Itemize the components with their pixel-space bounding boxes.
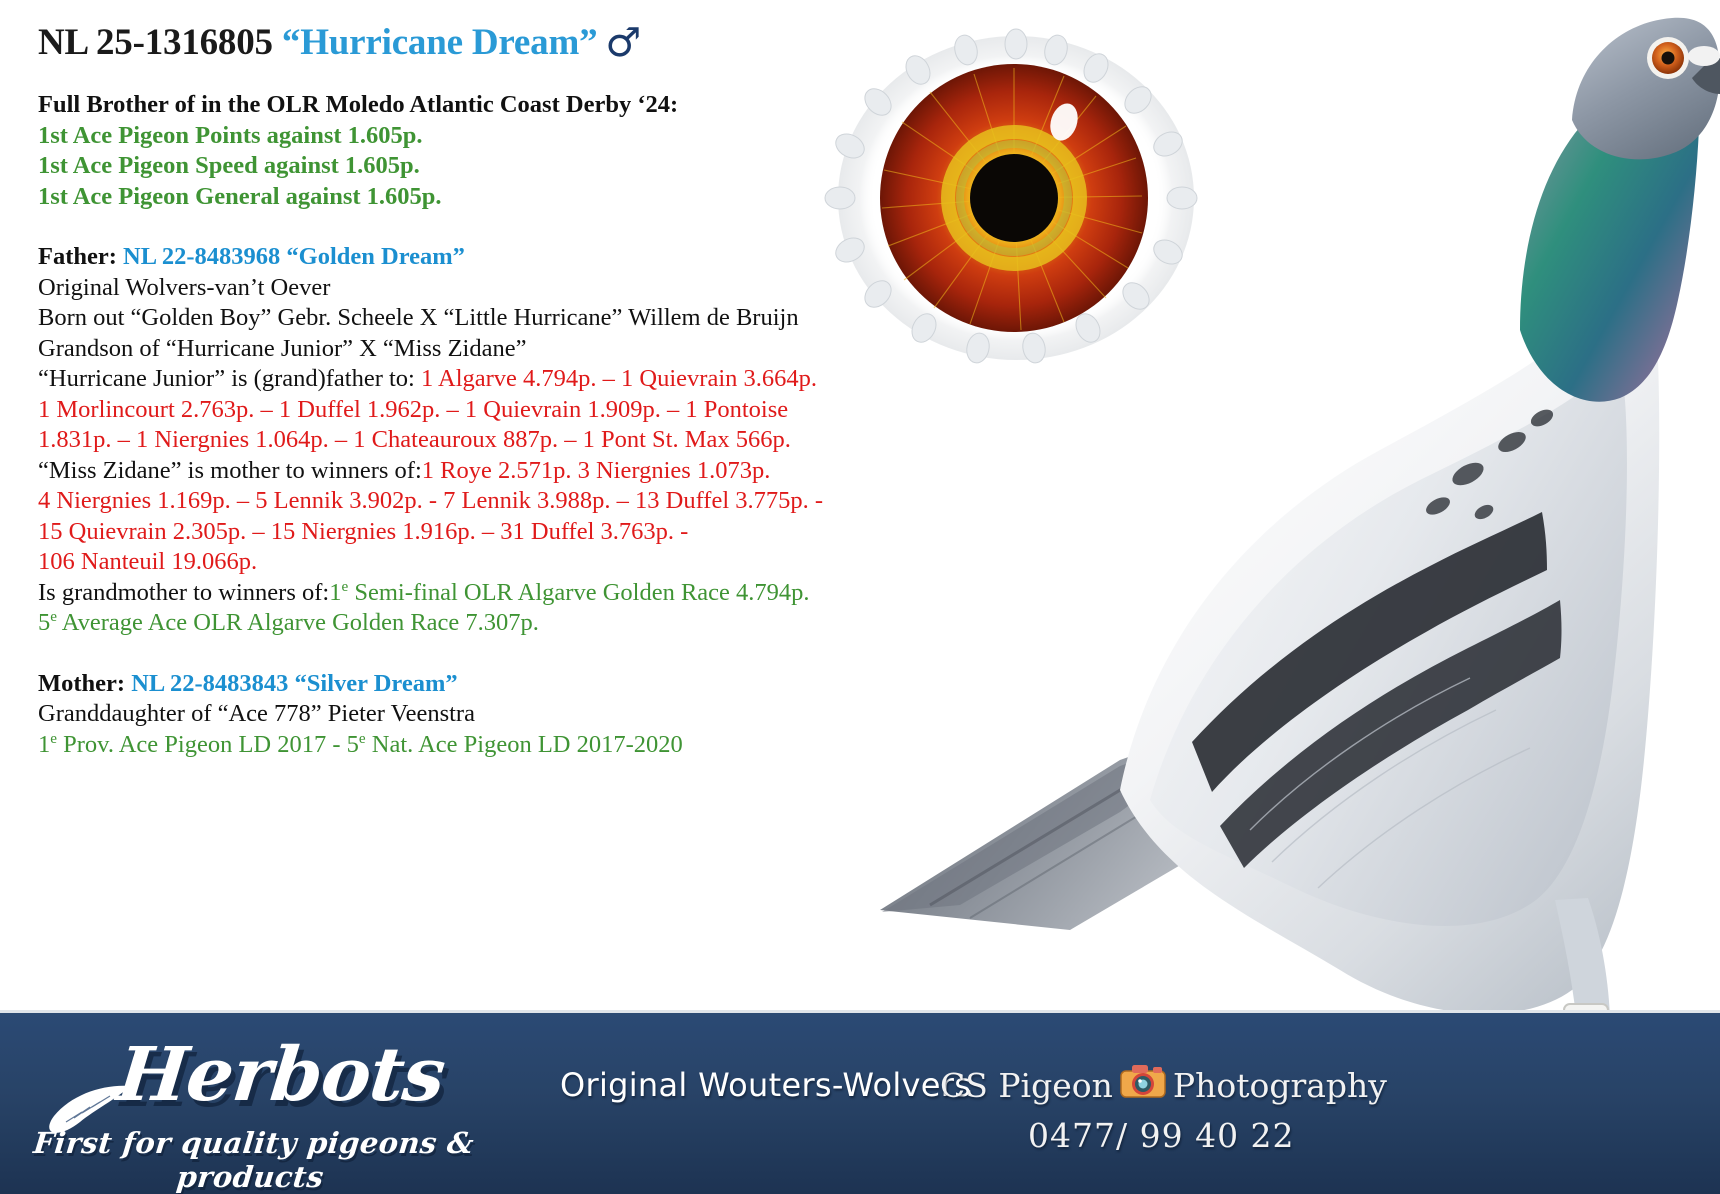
hurricane-junior-results-1: 1 Algarve 4.794p. – 1 Quievrain 3.664p.: [421, 365, 817, 392]
hurricane-junior-results-2: 1 Morlincourt 2.763p. – 1 Duffel 1.962p.…: [38, 395, 938, 426]
father-id-name: NL 22-8483968 “Golden Dream”: [123, 243, 465, 270]
highlight-line-2: 1st Ace Pigeon Speed against 1.605p.: [38, 151, 938, 182]
grandmother-result-1-rank: 1: [329, 579, 341, 606]
photographer-name-pre: CS Pigeon: [940, 1066, 1113, 1105]
pedigree-text-column: NL 25-1316805 “Hurricane Dream”♂ Full Br…: [38, 22, 938, 760]
miss-zidane-results-line-1: “Miss Zidane” is mother to winners of:1 …: [38, 456, 938, 487]
miss-zidane-results-3: 15 Quievrain 2.305p. – 15 Niergnies 1.91…: [38, 517, 938, 548]
highlight-line-1: 1st Ace Pigeon Points against 1.605p.: [38, 121, 938, 152]
grandmother-result-2-text: Average Ace OLR Algarve Golden Race 7.30…: [57, 609, 539, 636]
grandmother-results-line-1: Is grandmother to winners of:1e Semi-fin…: [38, 578, 938, 609]
ring-number: NL 25-1316805: [38, 22, 273, 63]
highlight-line-3: 1st Ace Pigeon General against 1.605p.: [38, 182, 938, 213]
mother-results: 1e Prov. Ace Pigeon LD 2017 - 5e Nat. Ac…: [38, 730, 938, 761]
mother-result-end: Nat. Ace Pigeon LD 2017-2020: [366, 731, 683, 758]
hurricane-junior-intro: “Hurricane Junior” is (grand)father to:: [38, 365, 421, 392]
mother-id-name: NL 22-8483843 “Silver Dream”: [131, 670, 457, 697]
grandmother-intro: Is grandmother to winners of:: [38, 579, 329, 606]
mother-origin: Granddaughter of “Ace 778” Pieter Veenst…: [38, 699, 938, 730]
herbots-tagline: First for quality pigeons & products: [18, 1126, 485, 1194]
photographer-credit: CS Pigeon Photography: [940, 1062, 1387, 1108]
mother-heading: Mother: NL 22-8483843 “Silver Dream”: [38, 669, 938, 700]
father-origin: Original Wolvers-van’t Oever: [38, 273, 938, 304]
herbots-wordmark: Herbots: [113, 1032, 448, 1118]
father-heading: Father: NL 22-8483968 “Golden Dream”: [38, 242, 938, 273]
male-symbol-icon: ♂: [605, 20, 641, 66]
mother-result-middle: Prov. Ace Pigeon LD 2017 - 5: [57, 731, 359, 758]
miss-zidane-intro: “Miss Zidane” is mother to winners of:: [38, 457, 422, 484]
herbots-logo[interactable]: Herbots First for quality pigeons & prod…: [18, 1030, 488, 1180]
pedigree-card: 6805: [0, 0, 1720, 1194]
mother-result-sup-2: e: [359, 729, 366, 746]
camera-icon: [1119, 1062, 1167, 1108]
miss-zidane-results-2: 4 Niergnies 1.169p. – 5 Lennik 3.902p. -…: [38, 486, 938, 517]
father-born-out: Born out “Golden Boy” Gebr. Scheele X “L…: [38, 303, 938, 334]
photographer-phone: 0477/ 99 40 22: [1028, 1116, 1295, 1155]
photographer-name-post: Photography: [1173, 1066, 1387, 1105]
grandmother-result-2-sup: e: [50, 608, 57, 625]
grandmother-result-2-rank: 5: [38, 609, 50, 636]
hurricane-junior-results-line-1: “Hurricane Junior” is (grand)father to: …: [38, 364, 938, 395]
pigeon-nickname: “Hurricane Dream”: [282, 22, 597, 63]
mother-block: Mother: NL 22-8483843 “Silver Dream” Gra…: [38, 669, 938, 761]
father-grandson-of: Grandson of “Hurricane Junior” X “Miss Z…: [38, 334, 938, 365]
grandmother-result-1: 1e Semi-final OLR Algarve Golden Race 4.…: [329, 579, 809, 606]
miss-zidane-results-1: 1 Roye 2.571p. 3 Niergnies 1.073p.: [422, 457, 771, 484]
footer-banner: Herbots First for quality pigeons & prod…: [0, 1010, 1720, 1194]
mother-result-sup-1: e: [50, 729, 57, 746]
father-block: Father: NL 22-8483968 “Golden Dream” Ori…: [38, 242, 938, 639]
hurricane-junior-results-3: 1.831p. – 1 Niergnies 1.064p. – 1 Chatea…: [38, 425, 938, 456]
grandmother-result-2: 5e Average Ace OLR Algarve Golden Race 7…: [38, 608, 938, 639]
highlights-heading: Full Brother of in the OLR Moledo Atlant…: [38, 90, 938, 121]
breeder-line: Original Wouters-Wolvers: [560, 1066, 971, 1104]
miss-zidane-results-4: 106 Nanteuil 19.066p.: [38, 547, 938, 578]
mother-result-rank-1: 1: [38, 731, 50, 758]
highlights-block: Full Brother of in the OLR Moledo Atlant…: [38, 90, 938, 212]
page-title: NL 25-1316805 “Hurricane Dream”♂: [38, 22, 938, 64]
mother-label: Mother:: [38, 670, 125, 697]
grandmother-result-1-text: Semi-final OLR Algarve Golden Race 4.794…: [348, 579, 809, 606]
father-label: Father:: [38, 243, 117, 270]
